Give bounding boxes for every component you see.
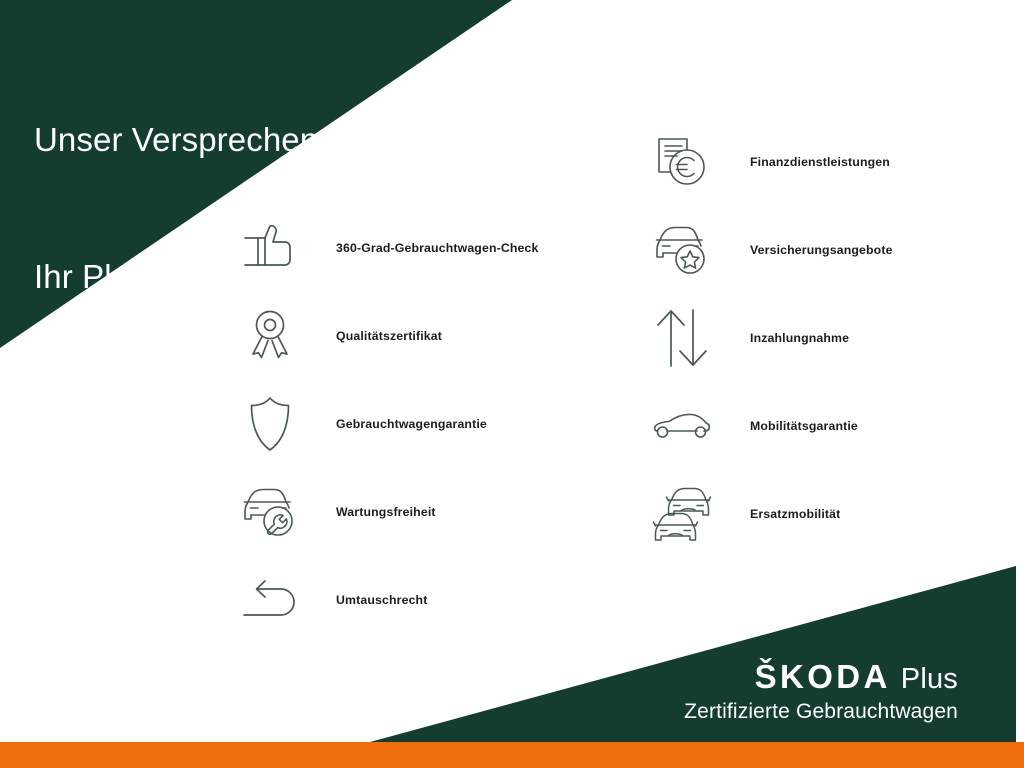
headline-line-2: Ihr Plus.	[34, 254, 327, 300]
feature-label: Finanzdienstleistungen	[750, 155, 890, 169]
feature-item-gebrauchtwagengarantie: Gebrauchtwagengarantie	[238, 380, 539, 468]
feature-label: 360-Grad-Gebrauchtwagen-Check	[336, 241, 539, 255]
headline: Unser Versprechen. Ihr Plus.	[34, 26, 327, 390]
feature-item-versicherungsangebote: Versicherungsangebote	[650, 206, 893, 294]
orange-bottom-bar	[0, 742, 1024, 768]
headline-line-1: Unser Versprechen.	[34, 117, 327, 163]
feature-label: Mobilitätsgarantie	[750, 419, 858, 433]
feature-item-umtauschrecht: Umtauschrecht	[238, 556, 539, 644]
feature-item-ersatzmobilitaet: Ersatzmobilität	[650, 470, 893, 558]
two-cars-icon	[650, 478, 714, 550]
brand-logo: ŠKODA Plus Zertifizierte Gebrauchtwagen	[684, 660, 958, 722]
car-star-icon	[650, 214, 714, 286]
feature-column-right: Finanzdienstleistungen Versicherungsange…	[650, 118, 893, 558]
up-down-arrows-icon	[650, 302, 714, 374]
feature-label: Versicherungsangebote	[750, 243, 893, 257]
feature-item-finanzdienstleistungen: Finanzdienstleistungen	[650, 118, 893, 206]
feature-label: Wartungsfreiheit	[336, 505, 436, 519]
brand-logo-row: ŠKODA Plus	[684, 660, 958, 694]
feature-label: Umtauschrecht	[336, 593, 427, 607]
shield-icon	[238, 388, 302, 460]
feature-label: Gebrauchtwagengarantie	[336, 417, 487, 431]
feature-item-wartungsfreiheit: Wartungsfreiheit	[238, 468, 539, 556]
feature-item-inzahlungnahme: Inzahlungnahme	[650, 294, 893, 382]
brand-name: ŠKODA	[755, 660, 891, 693]
side-car-icon	[650, 390, 714, 462]
document-euro-icon	[650, 126, 714, 198]
brand-tagline: Zertifizierte Gebrauchtwagen	[684, 701, 958, 722]
feature-label: Ersatzmobilität	[750, 507, 840, 521]
car-wrench-icon	[238, 476, 302, 548]
u-turn-arrow-icon	[238, 564, 302, 636]
feature-label: Inzahlungnahme	[750, 331, 849, 345]
promo-banner: Unser Versprechen. Ihr Plus. 360-Grad-Ge…	[0, 0, 1024, 768]
feature-label: Qualitätszertifikat	[336, 329, 442, 343]
feature-item-mobilitaetsgarantie: Mobilitätsgarantie	[650, 382, 893, 470]
brand-suffix: Plus	[901, 665, 958, 694]
